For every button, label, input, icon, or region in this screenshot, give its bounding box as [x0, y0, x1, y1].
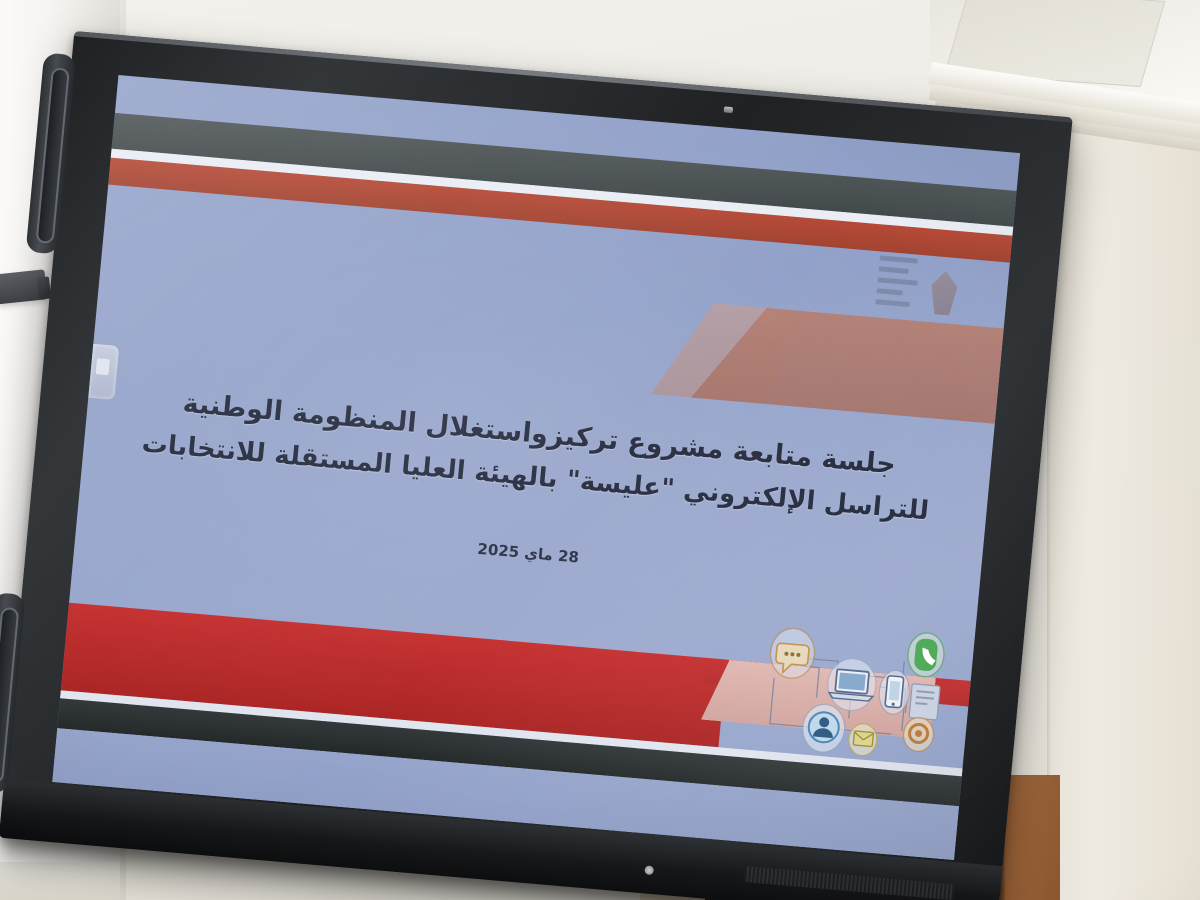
user-avatar-icon	[800, 703, 846, 754]
logo-text-bars	[874, 255, 924, 323]
network-communication-diagram	[749, 615, 959, 767]
chat-bubble-icon	[768, 627, 816, 681]
organization-logo	[869, 249, 964, 332]
display-screen[interactable]: جلسة متابعة مشروع تركيزواستغلال المنظومة…	[52, 75, 1020, 860]
interactive-display[interactable]: جلسة متابعة مشروع تركيزواستغلال المنظومة…	[0, 0, 1090, 900]
camera-sensor-icon	[724, 106, 734, 113]
logo-shield-emblem	[929, 270, 959, 316]
gear-icon	[902, 716, 935, 752]
envelope-icon	[847, 723, 878, 757]
room-scene: جلسة متابعة مشروع تركيزواستغلال المنظومة…	[0, 0, 1200, 900]
screen-side-tab-inner	[96, 358, 110, 375]
document-icon	[909, 684, 940, 720]
phone-handset-icon	[906, 631, 946, 678]
laptop-icon	[826, 657, 879, 713]
